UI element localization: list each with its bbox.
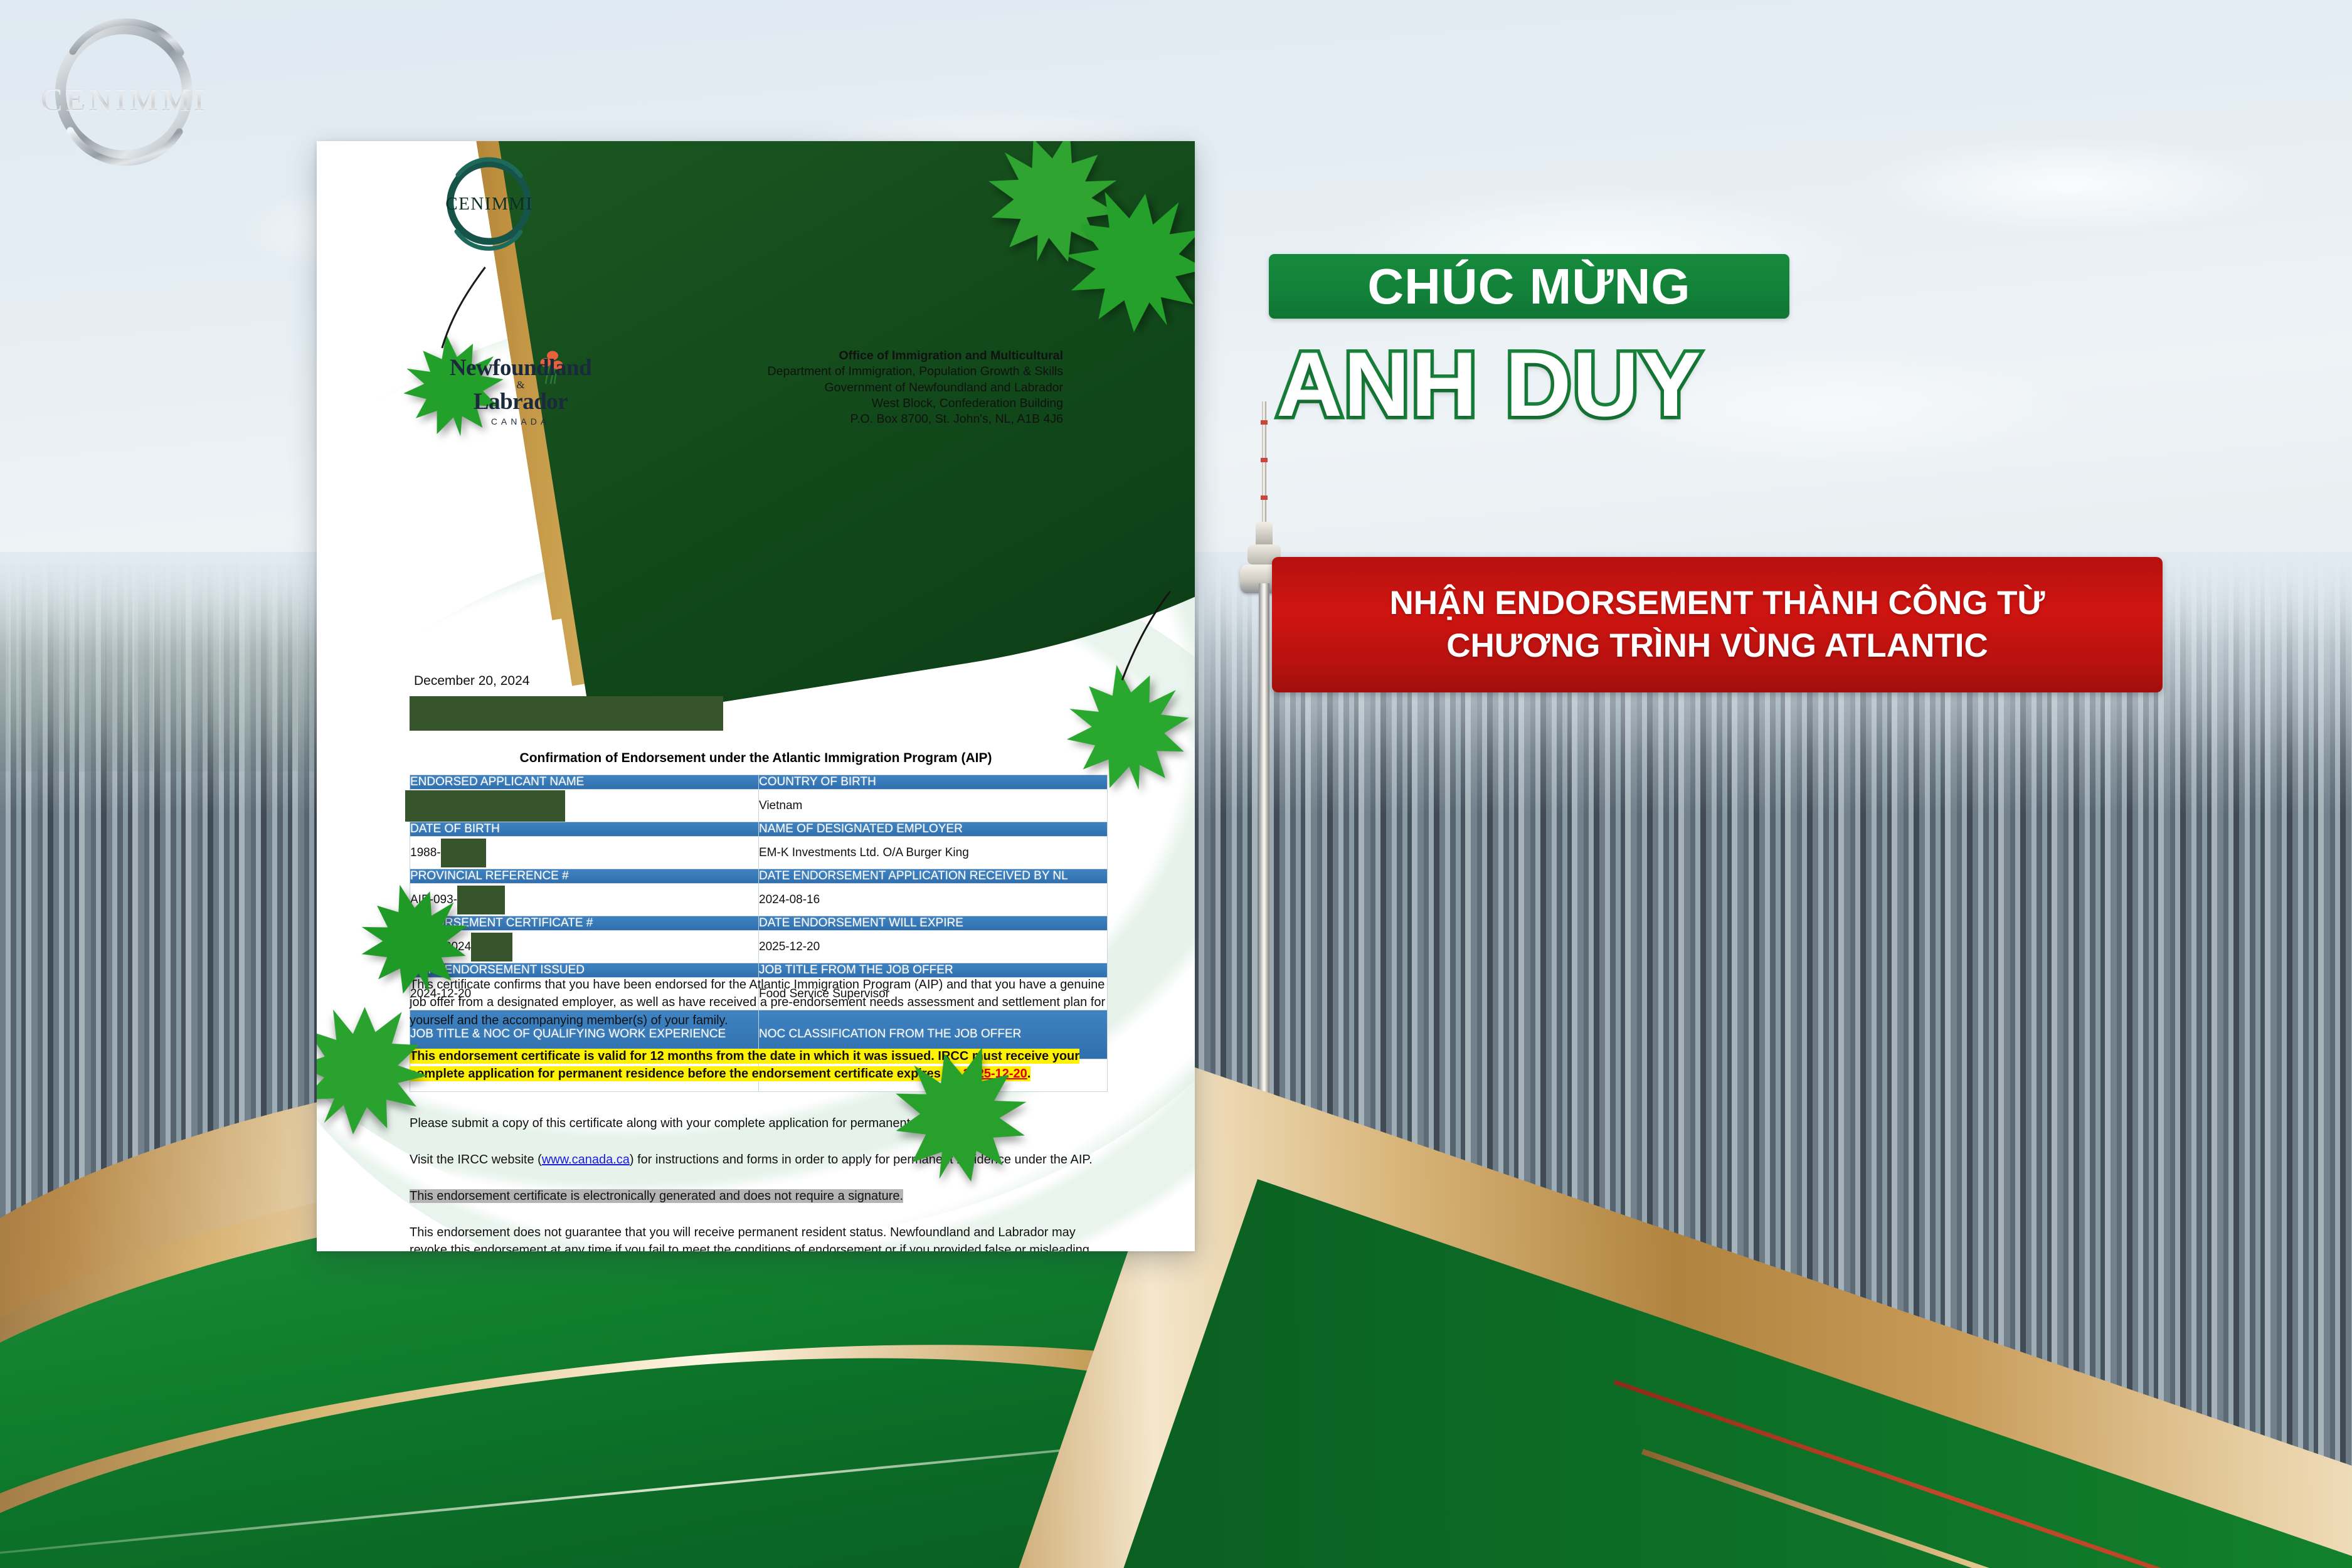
congrats-text: CHÚC MỪNG <box>1367 262 1690 312</box>
table-header-cell: ENDORSED APPLICANT NAME <box>410 775 759 790</box>
cn-tower-icon <box>1226 376 1301 1129</box>
table-header-cell: DATE ENDORSEMENT APPLICATION RECEIVED BY… <box>759 869 1108 884</box>
table-value-cell: Vietnam <box>759 790 1108 822</box>
table-header-cell: COUNTRY OF BIRTH <box>759 775 1108 790</box>
table-row: PROVINCIAL REFERENCE #DATE ENDORSEMENT A… <box>410 869 1108 884</box>
table-row: 1988- EM-K Investments Ltd. O/A Burger K… <box>410 837 1108 869</box>
table-value-cell: 2024-08-16 <box>759 884 1108 916</box>
office-address-block: Office of Immigration and Multicultural … <box>586 348 1063 428</box>
no-signature-text: This endorsement certificate is electron… <box>410 1189 903 1203</box>
table-header-cell: PROVINCIAL REFERENCE # <box>410 869 759 884</box>
table-value-cell <box>410 790 759 822</box>
table-value-cell: EM-K Investments Ltd. O/A Burger King <box>759 837 1108 869</box>
table-row: ENDORSED APPLICANT NAMECOUNTRY OF BIRTH <box>410 775 1108 790</box>
address-line-5: P.O. Box 8700, St. John's, NL, A1B 4J6 <box>586 411 1063 427</box>
subtitle-line-1: NHẬN ENDORSEMENT THÀNH CÔNG TỪ <box>1389 582 2045 625</box>
nl-logo-country: CANADA <box>439 417 602 426</box>
redaction-block <box>405 790 565 822</box>
cenimmi-watermark-logo: CENIMMI <box>24 14 225 171</box>
newfoundland-labrador-wordmark: Newfoundland & Labrador CANADA <box>439 356 602 426</box>
poster-canvas: CENIMMI CENIMMI <box>0 0 2352 1568</box>
table-row: ENDORSEMENT CERTIFICATE #DATE ENDORSEMEN… <box>410 916 1108 931</box>
table-row: Vietnam <box>410 790 1108 822</box>
endorsement-details-table: ENDORSED APPLICANT NAMECOUNTRY OF BIRTH … <box>410 775 1108 1092</box>
address-line-4: West Block, Confederation Building <box>586 396 1063 411</box>
subtitle-line-2: CHƯƠNG TRÌNH VÙNG ATLANTIC <box>1446 625 1988 667</box>
paragraph-disclaimer: This endorsement does not guarantee that… <box>410 1224 1108 1251</box>
table-value-cell: 1988- <box>410 837 759 869</box>
congrats-badge: CHÚC MỪNG <box>1269 254 1789 319</box>
paragraph-confirmation: This certificate confirms that you have … <box>410 976 1108 1029</box>
table-row: DATE OF BIRTHNAME OF DESIGNATED EMPLOYER <box>410 822 1108 837</box>
cenimmi-watermark-text: CENIMMI <box>24 82 225 119</box>
document-date: December 20, 2024 <box>414 674 529 689</box>
address-line-3: Government of Newfoundland and Labrador <box>586 380 1063 396</box>
recipient-name-heading: ANH DUY <box>1276 339 2092 430</box>
ircc-website-link[interactable]: www.canada.ca <box>542 1153 630 1167</box>
cenimmi-document-logo-text: CENIMMI <box>433 194 546 215</box>
maple-leaf-icon <box>1049 648 1205 804</box>
redaction-block-recipient <box>410 696 723 731</box>
cenimmi-document-logo: CENIMMI <box>433 155 546 255</box>
table-header-cell: DATE ENDORSEMENT WILL EXPIRE <box>759 916 1108 931</box>
table-value-cell: 2025-12-20 <box>759 931 1108 963</box>
website-prefix: Visit the IRCC website ( <box>410 1153 542 1167</box>
table-header-cell: NAME OF DESIGNATED EMPLOYER <box>759 822 1108 837</box>
address-line-2: Department of Immigration, Population Gr… <box>586 364 1063 379</box>
nl-logo-line1: Newfoundland <box>439 356 602 379</box>
nl-logo-line2: Labrador <box>439 390 602 413</box>
address-line-1: Office of Immigration and Multicultural <box>839 349 1063 363</box>
table-row: AIP-093- 2024-08-16 <box>410 884 1108 916</box>
table-header-cell: DATE OF BIRTH <box>410 822 759 837</box>
newfoundland-labrador-logo: Newfoundland & Labrador CANADA <box>439 351 602 430</box>
subtitle-banner: NHẬN ENDORSEMENT THÀNH CÔNG TỪ CHƯƠNG TR… <box>1272 557 2163 692</box>
redaction-block <box>441 839 486 867</box>
cell-text: 1988- <box>410 846 441 860</box>
table-row: NLAIP2024 2025-12-20 <box>410 931 1108 963</box>
